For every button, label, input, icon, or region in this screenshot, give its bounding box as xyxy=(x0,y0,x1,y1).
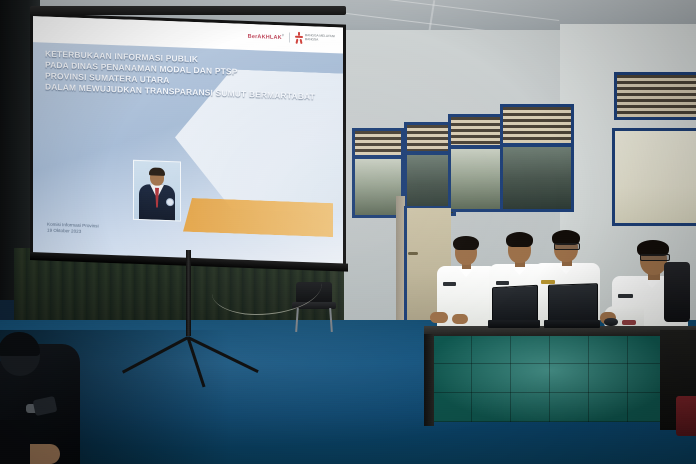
berakhlak-logo: BerAKHLAK# xyxy=(248,32,284,41)
projector-screen: BerAKHLAK# BANGGA MELAYANI BANGSA KETERB… xyxy=(30,13,346,269)
photograph-scene: BerAKHLAK# BANGGA MELAYANI BANGSA KETERB… xyxy=(0,0,696,464)
speaker-portrait xyxy=(133,160,181,222)
red-desk-object xyxy=(622,320,636,325)
hand xyxy=(430,312,448,323)
berakhlak-logo-text: BerAKHLAK xyxy=(248,33,282,40)
red-chair[interactable] xyxy=(676,396,696,436)
office-chair-right[interactable] xyxy=(664,262,690,322)
slide-canvas: BerAKHLAK# BANGGA MELAYANI BANGSA KETERB… xyxy=(33,16,343,265)
glasses-icon xyxy=(640,254,670,261)
conference-table xyxy=(432,336,668,422)
logo-divider xyxy=(289,32,290,42)
foreground-shadow xyxy=(0,420,30,464)
bangga-logo-mark-icon xyxy=(295,32,303,43)
window-glass-4 xyxy=(500,144,574,212)
whiteboard xyxy=(612,128,696,226)
tripod-pole xyxy=(186,250,191,336)
projected-slide: BerAKHLAK# BANGGA MELAYANI BANGSA KETERB… xyxy=(33,16,343,265)
berakhlak-logo-sup: # xyxy=(282,33,284,37)
door-handle-icon[interactable] xyxy=(408,252,418,255)
hand xyxy=(452,314,468,324)
bangga-logo-text: BANGGA MELAYANI BANGSA xyxy=(305,34,335,42)
screen-roller xyxy=(30,6,346,15)
window-louver-4 xyxy=(500,104,574,146)
window-louver-right xyxy=(614,72,696,120)
glasses-icon xyxy=(554,243,580,250)
mouse-device[interactable] xyxy=(604,318,618,326)
ceiling-tile-line xyxy=(331,0,559,21)
bangga-melayani-bangsa-logo: BANGGA MELAYANI BANGSA xyxy=(295,32,335,44)
window-louver-3 xyxy=(448,114,506,148)
window-glass-3 xyxy=(448,146,506,212)
table-left-edge xyxy=(424,334,434,426)
slide-caption: Komisi Informasi Provinsi 19 Oktober 202… xyxy=(47,222,99,236)
window-louver-1 xyxy=(352,128,404,158)
slide-accent-bar xyxy=(183,198,333,238)
